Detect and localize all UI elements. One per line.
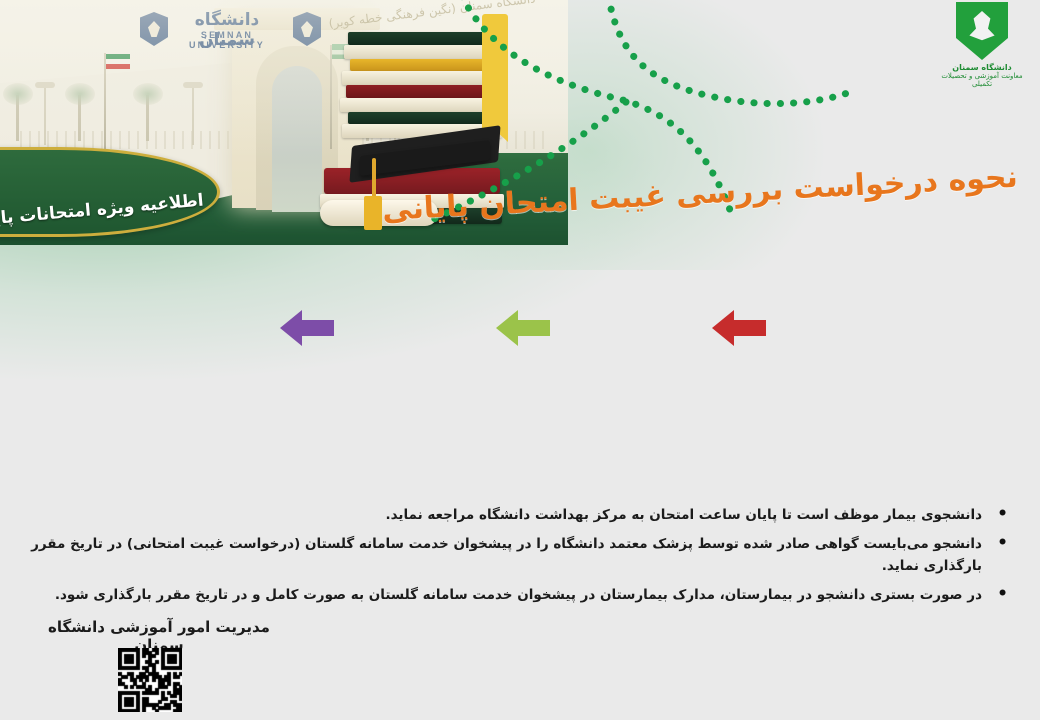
note-item-1: دانشجو می‌بایست گواهی صادر شده توسط پزشک… — [22, 533, 1022, 577]
arrow-1-to-2 — [712, 306, 766, 350]
note-item-0: دانشجوی بیمار موظف است تا پایان ساعت امت… — [22, 504, 1022, 526]
note-item-2: در صورت بستری دانشجو در بیمارستان، مدارک… — [22, 584, 1022, 606]
book-4 — [342, 71, 502, 85]
book-3 — [350, 59, 500, 71]
poster-page: دانشگاه سمنان SEMNAN UNIVERSITY دانشگاه … — [0, 0, 1040, 720]
arrow-3-to-4 — [280, 306, 334, 350]
cap-tassel-icon — [372, 158, 376, 200]
book-7 — [348, 112, 500, 124]
book-2 — [344, 45, 500, 59]
book-6 — [340, 98, 502, 112]
logo-line-1: دانشگاه سمنان — [934, 63, 1030, 72]
notes-list: دانشجوی بیمار موظف است تا پایان ساعت امت… — [22, 504, 1022, 613]
bookmark-ribbon-icon — [482, 14, 508, 130]
qr-code[interactable] — [118, 648, 182, 712]
semnan-university-logo: دانشگاه سمنان معاونت آموزشی و تحصیلات تک… — [934, 2, 1030, 94]
logo-line-2: معاونت آموزشی و تحصیلات تکمیلی — [934, 72, 1030, 88]
book-5 — [346, 85, 500, 98]
book-1 — [348, 32, 496, 45]
arrow-2-to-3 — [496, 306, 550, 350]
shield-icon — [956, 2, 1008, 60]
diploma-ribbon-icon — [364, 196, 382, 230]
page-title: نحوه درخواست بررسی غیبت امتحان پایانی — [547, 160, 1018, 220]
